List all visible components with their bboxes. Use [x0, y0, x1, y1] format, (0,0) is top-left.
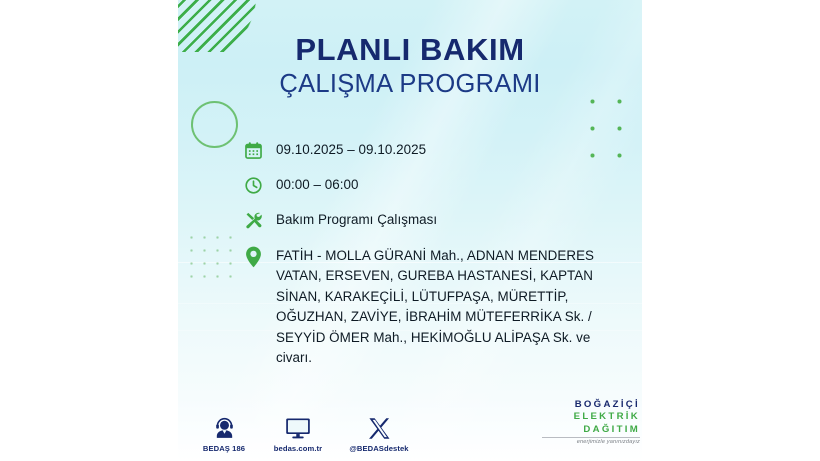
- dot-grid-decoration-left: [183, 229, 233, 281]
- screenshot-canvas: PLANLI BAKIM ÇALIŞMA PROGRAMI: [0, 0, 820, 461]
- contact-call-center-label: BEDAŞ 186: [186, 444, 262, 453]
- monitor-icon: [258, 414, 338, 440]
- card-footer: BEDAŞ 186 bedas.com.tr: [178, 397, 642, 453]
- date-range-text: 09.10.2025 – 09.10.2025: [276, 140, 426, 160]
- page-title-secondary: ÇALIŞMA PROGRAMI: [178, 70, 642, 98]
- affected-area-text: FATİH - MOLLA GÜRANİ Mah., ADNAN MENDERE…: [276, 245, 620, 368]
- circle-outline-decoration: [191, 101, 238, 148]
- location-pin-icon: [240, 245, 266, 267]
- info-row-date: 09.10.2025 – 09.10.2025: [240, 140, 620, 162]
- contact-x-account[interactable]: @BEDASdestek: [336, 414, 422, 453]
- work-type-text: Bakım Programı Çalışması: [276, 210, 437, 230]
- time-range-text: 00:00 – 06:00: [276, 175, 359, 195]
- contact-x-account-label: @BEDASdestek: [336, 444, 422, 453]
- contact-website[interactable]: bedas.com.tr: [258, 414, 338, 453]
- support-agent-icon: [186, 414, 262, 440]
- info-row-worktype: Bakım Programı Çalışması: [240, 210, 620, 232]
- logo-line-elektrik: ELEKTRİK: [542, 411, 640, 423]
- info-row-time: 00:00 – 06:00: [240, 175, 620, 197]
- logo-tagline: enerjimizle yanınızdayız: [542, 437, 640, 445]
- maintenance-notice-card: PLANLI BAKIM ÇALIŞMA PROGRAMI: [178, 0, 642, 461]
- calendar-icon: [240, 140, 266, 162]
- clock-icon: [240, 175, 266, 197]
- logo-line-bogazici: BOĞAZİÇİ: [542, 399, 640, 411]
- bedas-logo: BOĞAZİÇİ ELEKTRİK DAĞITIM enerjimizle ya…: [542, 399, 640, 445]
- contact-website-label: bedas.com.tr: [258, 444, 338, 453]
- card-header: PLANLI BAKIM ÇALIŞMA PROGRAMI: [178, 34, 642, 98]
- x-twitter-icon: [336, 414, 422, 440]
- info-list: 09.10.2025 – 09.10.2025 00:00 – 06:00: [240, 140, 620, 381]
- info-row-address: FATİH - MOLLA GÜRANİ Mah., ADNAN MENDERE…: [240, 245, 620, 368]
- page-title-primary: PLANLI BAKIM: [178, 34, 642, 67]
- logo-line-dagitim: DAĞITIM: [542, 424, 640, 436]
- contact-call-center[interactable]: BEDAŞ 186: [186, 414, 262, 453]
- tools-icon: [240, 210, 266, 232]
